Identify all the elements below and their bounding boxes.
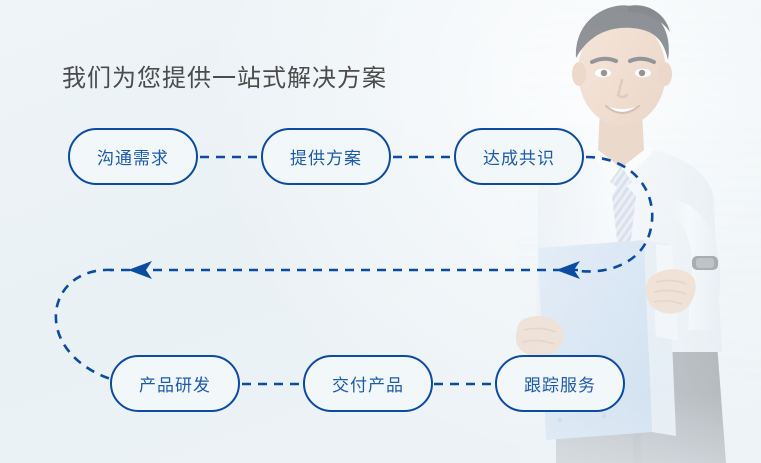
flow-node-label: 沟通需求 xyxy=(97,144,169,169)
flow-node-deliver-product[interactable]: 交付产品 xyxy=(303,355,433,412)
flow-node-label: 跟踪服务 xyxy=(524,371,596,396)
arrowhead-mid xyxy=(128,261,152,279)
connector-left-loop xyxy=(56,270,114,380)
flow-node-product-development[interactable]: 产品研发 xyxy=(110,355,240,412)
flow-node-label: 达成共识 xyxy=(483,144,555,169)
flow-node-provide-solution[interactable]: 提供方案 xyxy=(261,128,391,185)
banner-stage: 我们为您提供一站式解决方案 沟通需求 提供方案 达成共识 产品研发 交付产品 跟… xyxy=(0,0,761,463)
flow-node-reach-consensus[interactable]: 达成共识 xyxy=(454,128,584,185)
flow-node-label: 产品研发 xyxy=(139,371,211,396)
flow-node-communicate-requirements[interactable]: 沟通需求 xyxy=(68,128,198,185)
flow-node-follow-up-service[interactable]: 跟踪服务 xyxy=(495,355,625,412)
flow-node-label: 交付产品 xyxy=(332,371,404,396)
flow-node-label: 提供方案 xyxy=(290,144,362,169)
connector-right-loop xyxy=(580,157,652,271)
